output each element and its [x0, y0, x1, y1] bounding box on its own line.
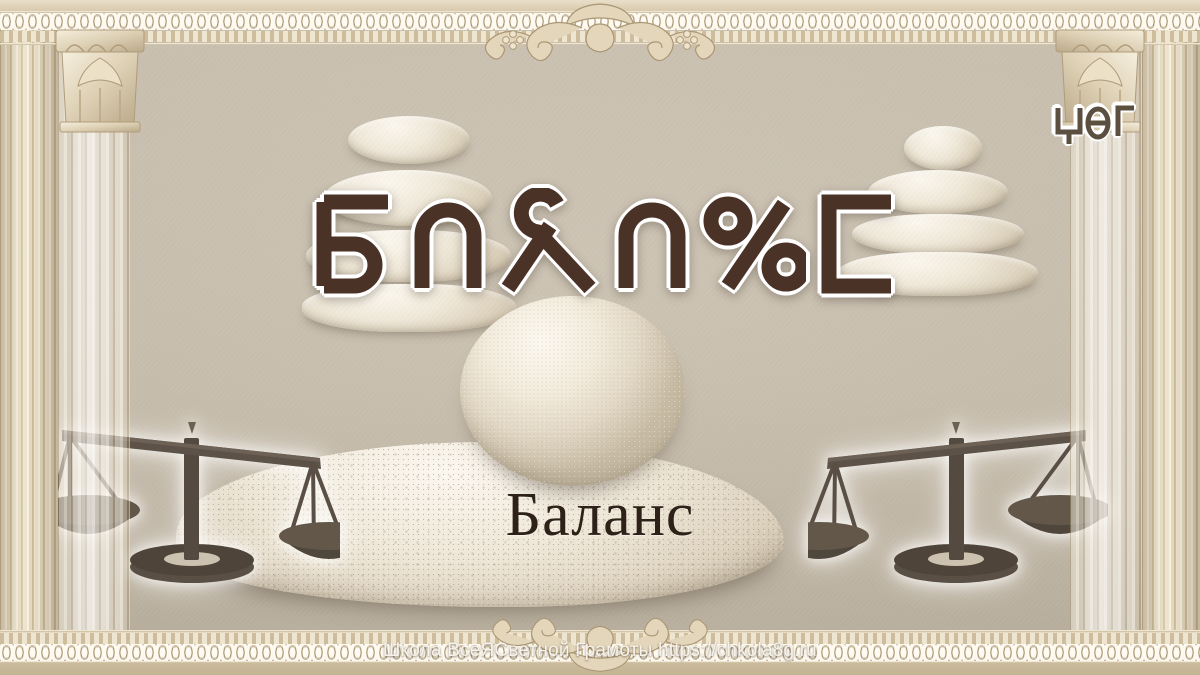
- stone-texture: [460, 296, 685, 486]
- center-balancing-stone: [460, 296, 685, 486]
- filet-line: [0, 11, 1200, 13]
- glyph-a-icon: [609, 188, 695, 300]
- filet-line: [0, 661, 1200, 663]
- glyph-b-icon: [302, 188, 398, 300]
- glyph-a-icon: [405, 188, 491, 300]
- slide-canvas: Баланс: [0, 0, 1200, 675]
- glyph-l-icon: [498, 188, 602, 300]
- glyph-n-icon: [702, 188, 806, 300]
- egg-and-dart-molding-bottom: [0, 644, 1200, 661]
- egg-and-dart-molding-top: [0, 13, 1200, 30]
- title-glyph-row: [0, 188, 1200, 300]
- subtitle-word: Баланс: [0, 484, 1200, 546]
- frame-band-top: [0, 0, 1200, 30]
- dentil-molding-bottom: [0, 633, 1200, 644]
- glyph-s-icon: [813, 188, 899, 300]
- footer-caption: Школа ВсеЯСветной Грамоты https://chkola…: [0, 640, 1200, 662]
- balance-scales-left: [40, 330, 340, 590]
- column-right: [1142, 0, 1200, 675]
- balance-scales-right: [808, 330, 1108, 590]
- frame-band-bottom: [0, 631, 1200, 675]
- column-right-shading: [1142, 0, 1200, 675]
